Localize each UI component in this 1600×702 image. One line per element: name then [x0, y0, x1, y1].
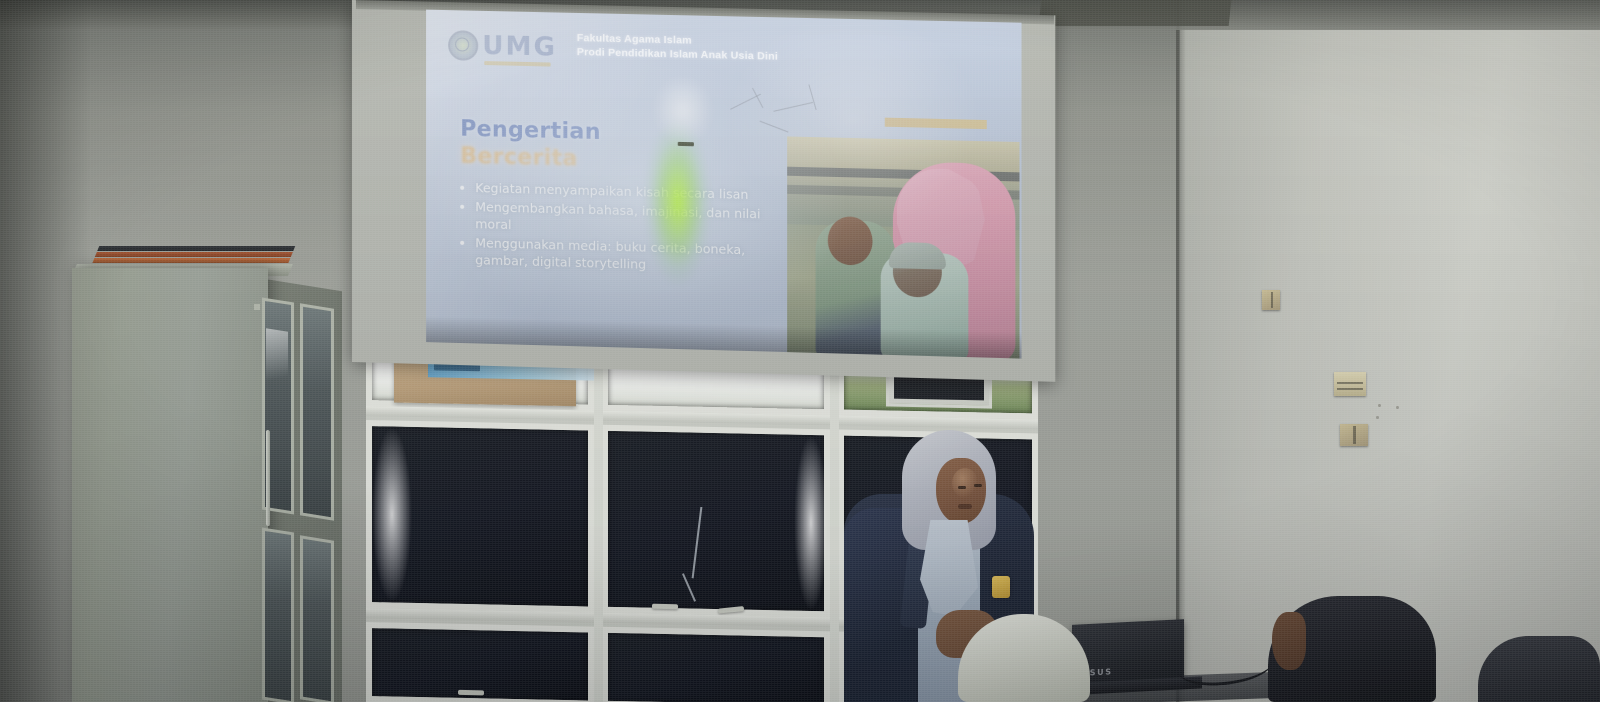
window-pane-mid-2[interactable] — [602, 425, 830, 618]
cabinet-glass-pane-2[interactable] — [300, 303, 334, 520]
slide-header: UMG Fakultas Agama Islam Prodi Pendidika… — [426, 10, 1021, 90]
book-3 — [92, 258, 290, 263]
bracket-lower-icon — [1340, 424, 1368, 446]
presenter-eye-right — [974, 484, 982, 487]
projector-hotspot — [652, 75, 713, 147]
bracket-middle-icon — [1334, 372, 1366, 396]
list-item: Menggunakan media: buku cerita, boneka, … — [475, 234, 765, 276]
room-corner-line — [1176, 0, 1179, 702]
book-2 — [95, 252, 293, 257]
photo-boy-head — [828, 216, 873, 266]
faculty-heading: Fakultas Agama Islam Prodi Pendidikan Is… — [577, 31, 778, 64]
cabinet-glass-pane-4[interactable] — [300, 535, 334, 702]
cabinet-glass-door-left[interactable] — [254, 304, 260, 310]
window-mullion-1 — [594, 353, 603, 702]
presentation-slide: UMG Fakultas Agama Islam Prodi Pendidika… — [426, 10, 1021, 359]
projector-flare-dot — [678, 142, 694, 146]
logo-underline — [484, 61, 550, 67]
slide-subtitle: Bercerita — [460, 144, 578, 172]
slide-photo — [787, 136, 1019, 358]
slide-title: Pengertian — [460, 117, 601, 145]
wall-mark-3 — [1376, 416, 1379, 419]
presenter-faculty-badge-icon — [992, 576, 1010, 598]
logo-text: UMG — [482, 31, 557, 63]
cabinet-door-handle[interactable] — [266, 430, 270, 527]
wall-mark-1 — [1378, 404, 1381, 407]
university-crest-icon — [448, 30, 478, 61]
presenter-eye-left — [958, 486, 966, 489]
window-latch-low[interactable] — [458, 690, 484, 696]
list-item: Mengembangkan bahasa, imajinasi, dan nil… — [475, 198, 765, 240]
ceiling-vent — [1039, 0, 1232, 26]
audience-far-right — [1478, 636, 1600, 702]
wall-mark-2 — [1396, 406, 1399, 409]
bracket-upper-icon — [1262, 290, 1280, 310]
metal-storage-cabinet[interactable] — [72, 268, 268, 702]
presenter-mouth — [958, 504, 972, 509]
cabinet-glass-sheen — [266, 328, 288, 411]
window-pane-mid-1[interactable] — [366, 420, 594, 613]
window-mullion-2 — [830, 357, 839, 702]
book-1 — [97, 246, 295, 251]
projection-screen: UMG Fakultas Agama Islam Prodi Pendidika… — [352, 0, 1055, 382]
slide-bullet-list: Kegiatan menyampaikan kisah secara lisan… — [462, 179, 765, 278]
audience-right-face — [1272, 612, 1306, 670]
slide-accent-bar — [885, 118, 987, 130]
presenter-face-highlight — [952, 468, 978, 498]
classroom-photo-scene: UMG Fakultas Agama Islam Prodi Pendidika… — [0, 0, 1600, 702]
window-pane-low-2[interactable] — [602, 627, 830, 702]
window-latch-mid[interactable] — [652, 604, 678, 610]
cabinet-glass-pane-3[interactable] — [262, 527, 294, 702]
